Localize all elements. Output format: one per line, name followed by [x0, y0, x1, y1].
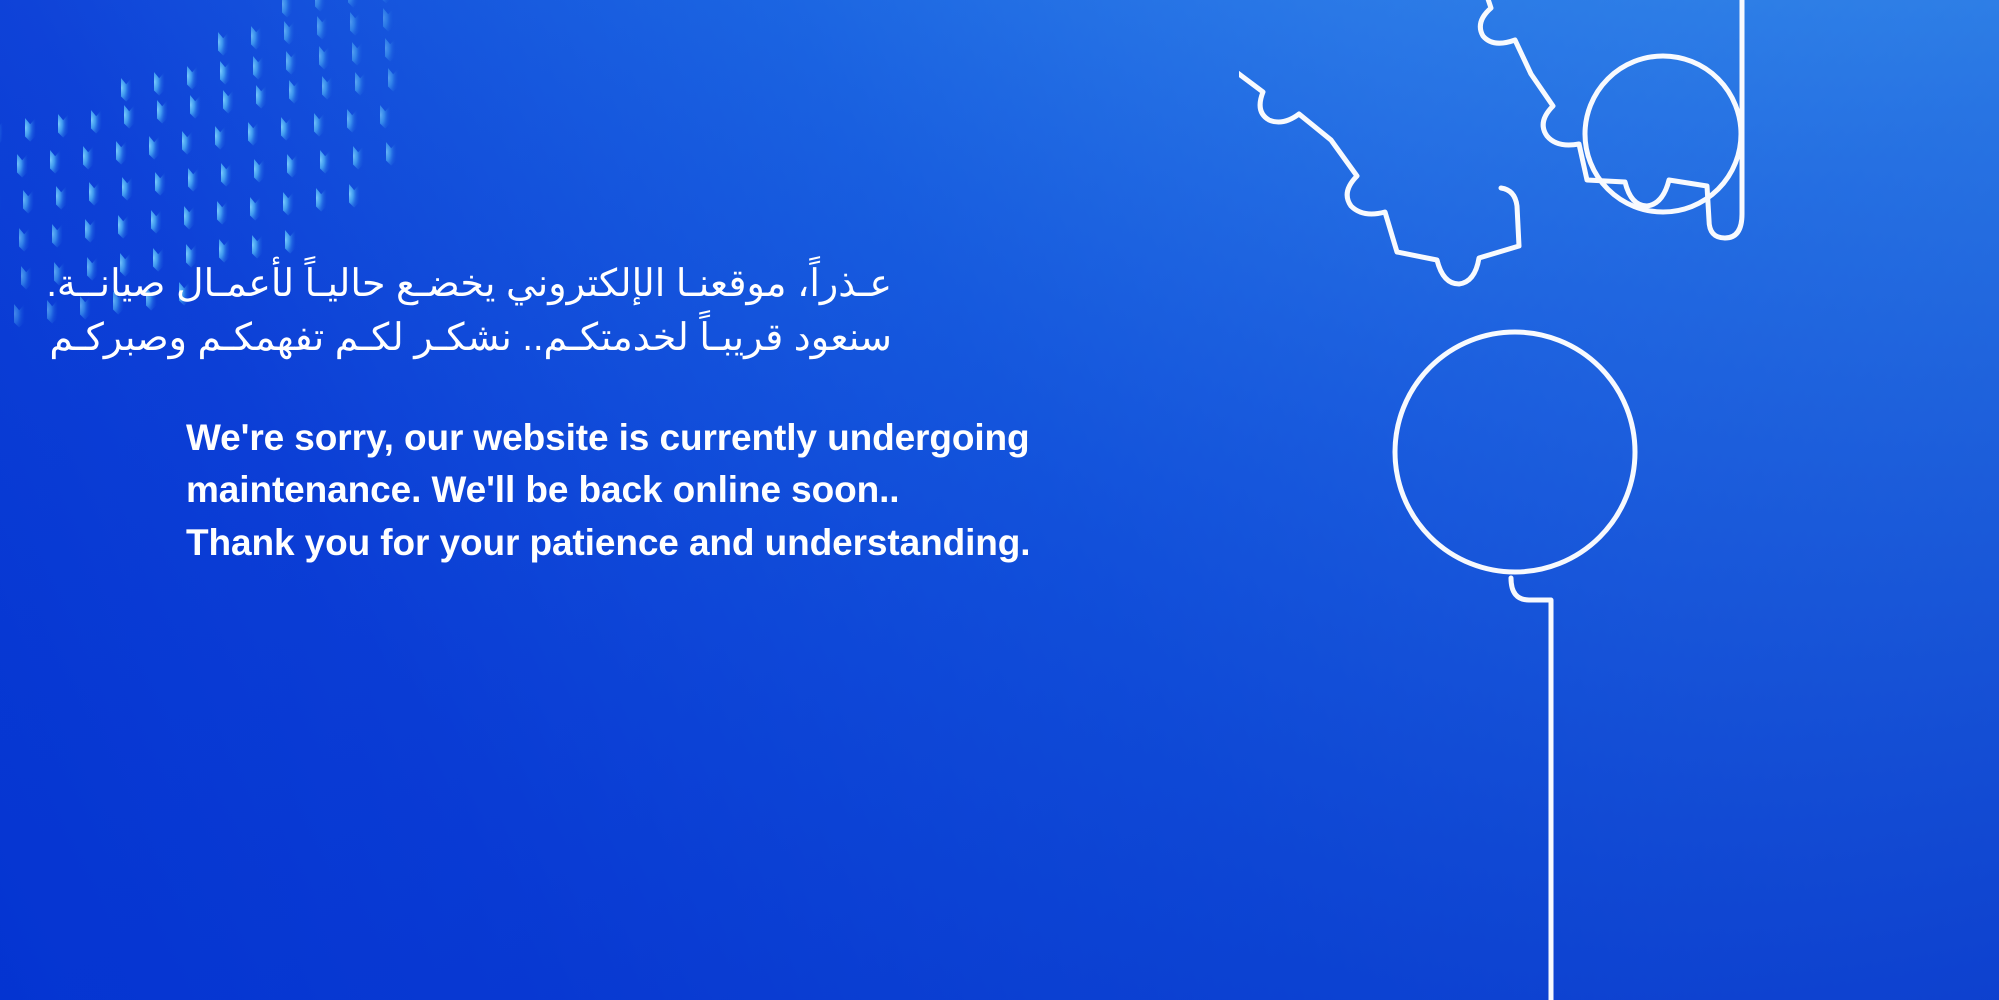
gear-large-hub: [1395, 332, 1635, 572]
english-message-line-2: maintenance. We'll be back online soon..: [186, 464, 1136, 517]
gear-small-hub: [1585, 56, 1741, 212]
shaft-bottom-line: [1511, 578, 1551, 1000]
maintenance-copy: عـذراً، موقعنـا الإلكتروني يخضـع حاليـاً…: [186, 258, 1136, 570]
english-message-line-1: We're sorry, our website is currently un…: [186, 412, 1136, 465]
gear-small-teeth: [1479, 0, 1725, 238]
arabic-message-line-2: سنعود قريبـاً لخدمتكـم.. نشكـر لكـم تفهم…: [186, 312, 892, 366]
english-message-line-3: Thank you for your patience and understa…: [186, 517, 1136, 570]
maintenance-page: عـذراً، موقعنـا الإلكتروني يخضـع حاليـاً…: [0, 0, 1999, 1000]
shaft-top-line: [1725, 0, 1742, 238]
gear-line-artwork: [1239, 0, 1999, 1000]
gear-large-teeth: [1239, 62, 1519, 284]
english-message: We're sorry, our website is currently un…: [186, 366, 1136, 570]
arabic-message-line-1: عـذراً، موقعنـا الإلكتروني يخضـع حاليـاً…: [186, 258, 892, 312]
arabic-message: عـذراً، موقعنـا الإلكتروني يخضـع حاليـاً…: [186, 258, 892, 366]
